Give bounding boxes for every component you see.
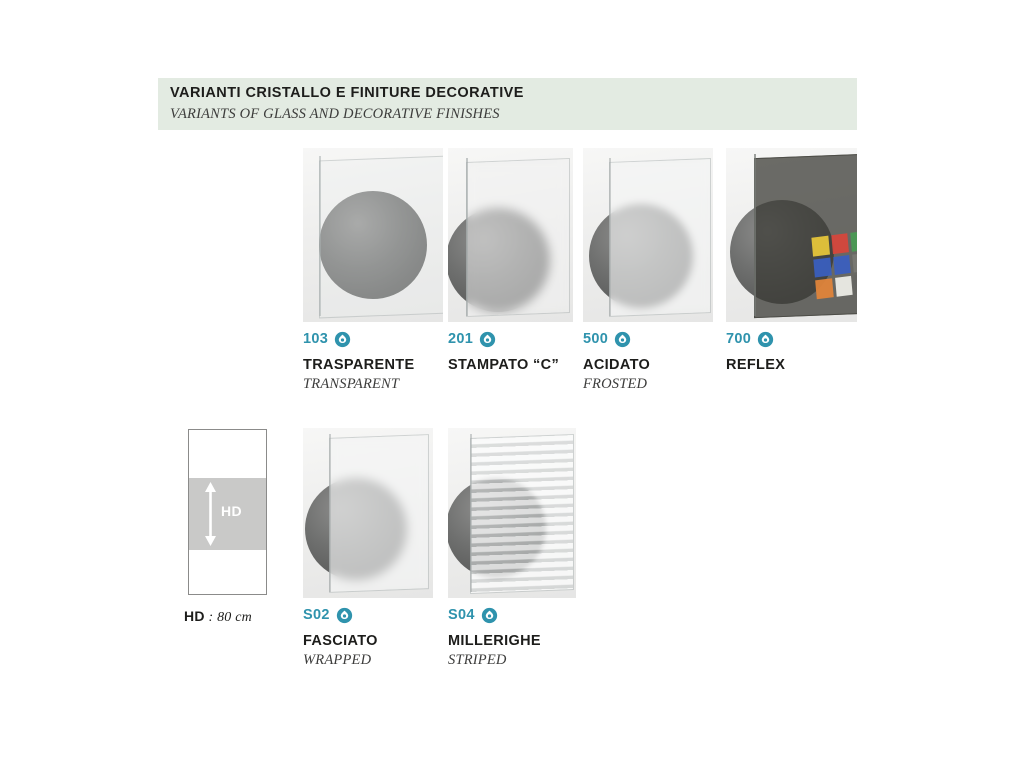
variant-name-en: STRIPED xyxy=(448,652,576,668)
pane-edge xyxy=(470,434,472,592)
wrapped-frosted-overlay xyxy=(330,435,428,592)
swatch-white xyxy=(835,276,853,297)
striped-pattern-overlay xyxy=(471,435,573,593)
hd-diagram: HD xyxy=(188,429,267,595)
variant-card-700[interactable]: 700 REFLEX xyxy=(726,148,857,376)
pane-edge xyxy=(319,156,321,316)
variant-card-S04[interactable]: S04 MILLERIGHE STRIPED xyxy=(448,428,576,668)
variant-code-row-700: 700 xyxy=(726,331,857,348)
variant-thumbnail-S02 xyxy=(303,428,433,598)
swatch-orange xyxy=(815,279,833,300)
color-checker-reflection xyxy=(811,231,857,300)
hd-caption-value: 80 cm xyxy=(217,610,252,625)
variant-code: 700 xyxy=(726,332,751,347)
glass-finish-icon xyxy=(481,607,498,624)
page-root: VARIANTI CRISTALLO E FINITURE DECORATIVE… xyxy=(0,0,1024,768)
swatch-blue-2 xyxy=(833,255,851,276)
page-subtitle: VARIANTS OF GLASS AND DECORATIVE FINISHE… xyxy=(170,104,857,124)
variant-card-201[interactable]: 201 STAMPATO “C” xyxy=(448,148,573,376)
variant-name-it: ACIDATO xyxy=(583,357,713,373)
variant-card-500[interactable]: 500 ACIDATO FROSTED xyxy=(583,148,713,392)
page-title: VARIANTI CRISTALLO E FINITURE DECORATIVE xyxy=(170,85,857,102)
variant-card-103[interactable]: 103 TRASPARENTE TRANSPARENT xyxy=(303,148,443,392)
hd-double-arrow-icon xyxy=(203,482,218,546)
hd-caption-key: HD xyxy=(184,608,205,624)
variant-name-it: STAMPATO “C” xyxy=(448,357,573,373)
hd-band-label: HD xyxy=(221,503,242,519)
variant-code: S02 xyxy=(303,608,330,623)
variant-code-row-S04: S04 xyxy=(448,607,576,624)
variant-code-row-500: 500 xyxy=(583,331,713,348)
swatch-blue-1 xyxy=(813,257,831,278)
swatch-gray xyxy=(852,252,857,273)
variant-name-en: WRAPPED xyxy=(303,652,433,668)
textured-glass-overlay xyxy=(467,159,569,316)
frosted-overlay xyxy=(610,159,710,316)
variant-thumbnail-103 xyxy=(303,148,443,322)
variant-code-row-201: 201 xyxy=(448,331,573,348)
swatch-green xyxy=(851,231,857,252)
pane-edge xyxy=(609,158,611,316)
swatch-yellow xyxy=(811,236,829,257)
variant-code-row-103: 103 xyxy=(303,331,443,348)
glass-finish-icon xyxy=(334,331,351,348)
hd-caption-sep: : xyxy=(205,610,217,625)
variant-code: 500 xyxy=(583,332,608,347)
variant-code-row-S02: S02 xyxy=(303,607,433,624)
variant-code: 201 xyxy=(448,332,473,347)
variant-name-it: FASCIATO xyxy=(303,633,433,649)
glass-finish-icon xyxy=(614,331,631,348)
hd-caption: HD : 80 cm xyxy=(184,608,252,626)
variant-code: 103 xyxy=(303,332,328,347)
section-header-band: VARIANTI CRISTALLO E FINITURE DECORATIVE… xyxy=(158,78,857,130)
variant-name-it: TRASPARENTE xyxy=(303,357,443,373)
glass-finish-icon xyxy=(757,331,774,348)
variant-thumbnail-700 xyxy=(726,148,857,322)
variant-thumbnail-500 xyxy=(583,148,713,322)
glass-finish-icon xyxy=(336,607,353,624)
pane-edge xyxy=(466,158,468,316)
glass-pane xyxy=(319,156,443,319)
swatch-empty xyxy=(854,274,857,295)
variant-name-en: FROSTED xyxy=(583,376,713,392)
variant-thumbnail-201 xyxy=(448,148,573,322)
variant-card-S02[interactable]: S02 FASCIATO WRAPPED xyxy=(303,428,433,668)
pane-edge xyxy=(754,154,756,316)
swatch-red xyxy=(831,233,849,254)
variant-code: S04 xyxy=(448,608,475,623)
variant-name-it: MILLERIGHE xyxy=(448,633,576,649)
variant-name-it: REFLEX xyxy=(726,357,857,373)
pane-edge xyxy=(329,434,331,592)
variant-name-en: TRANSPARENT xyxy=(303,376,443,392)
variant-thumbnail-S04 xyxy=(448,428,576,598)
glass-finish-icon xyxy=(479,331,496,348)
